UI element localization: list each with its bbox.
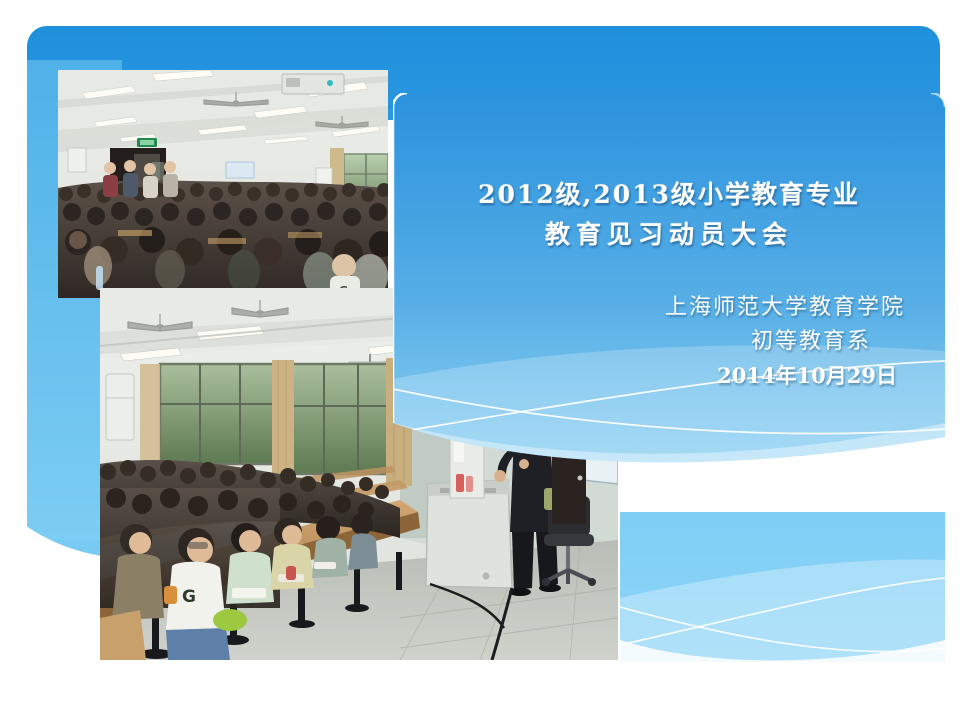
lecture-hall-audience-photo: G xyxy=(58,70,388,298)
title-line-2: 教育见习动员大会 xyxy=(411,215,927,255)
title-panel: 2012级,2013级小学教育专业 教育见习动员大会 上海师范大学教育学院 初等… xyxy=(393,93,945,471)
subtitle-date: 2014年10月29日 xyxy=(393,359,905,393)
slide-subtitle: 上海师范大学教育学院 初等教育系 2014年10月29日 xyxy=(393,291,945,393)
subtitle-department: 初等教育系 xyxy=(393,325,905,359)
presentation-slide: G xyxy=(0,0,960,720)
slide-title: 2012级,2013级小学教育专业 教育见习动员大会 xyxy=(393,175,945,255)
subtitle-organization: 上海师范大学教育学院 xyxy=(393,291,905,325)
svg-text:G: G xyxy=(182,587,196,607)
title-line-1: 2012级,2013级小学教育专业 xyxy=(411,175,927,215)
